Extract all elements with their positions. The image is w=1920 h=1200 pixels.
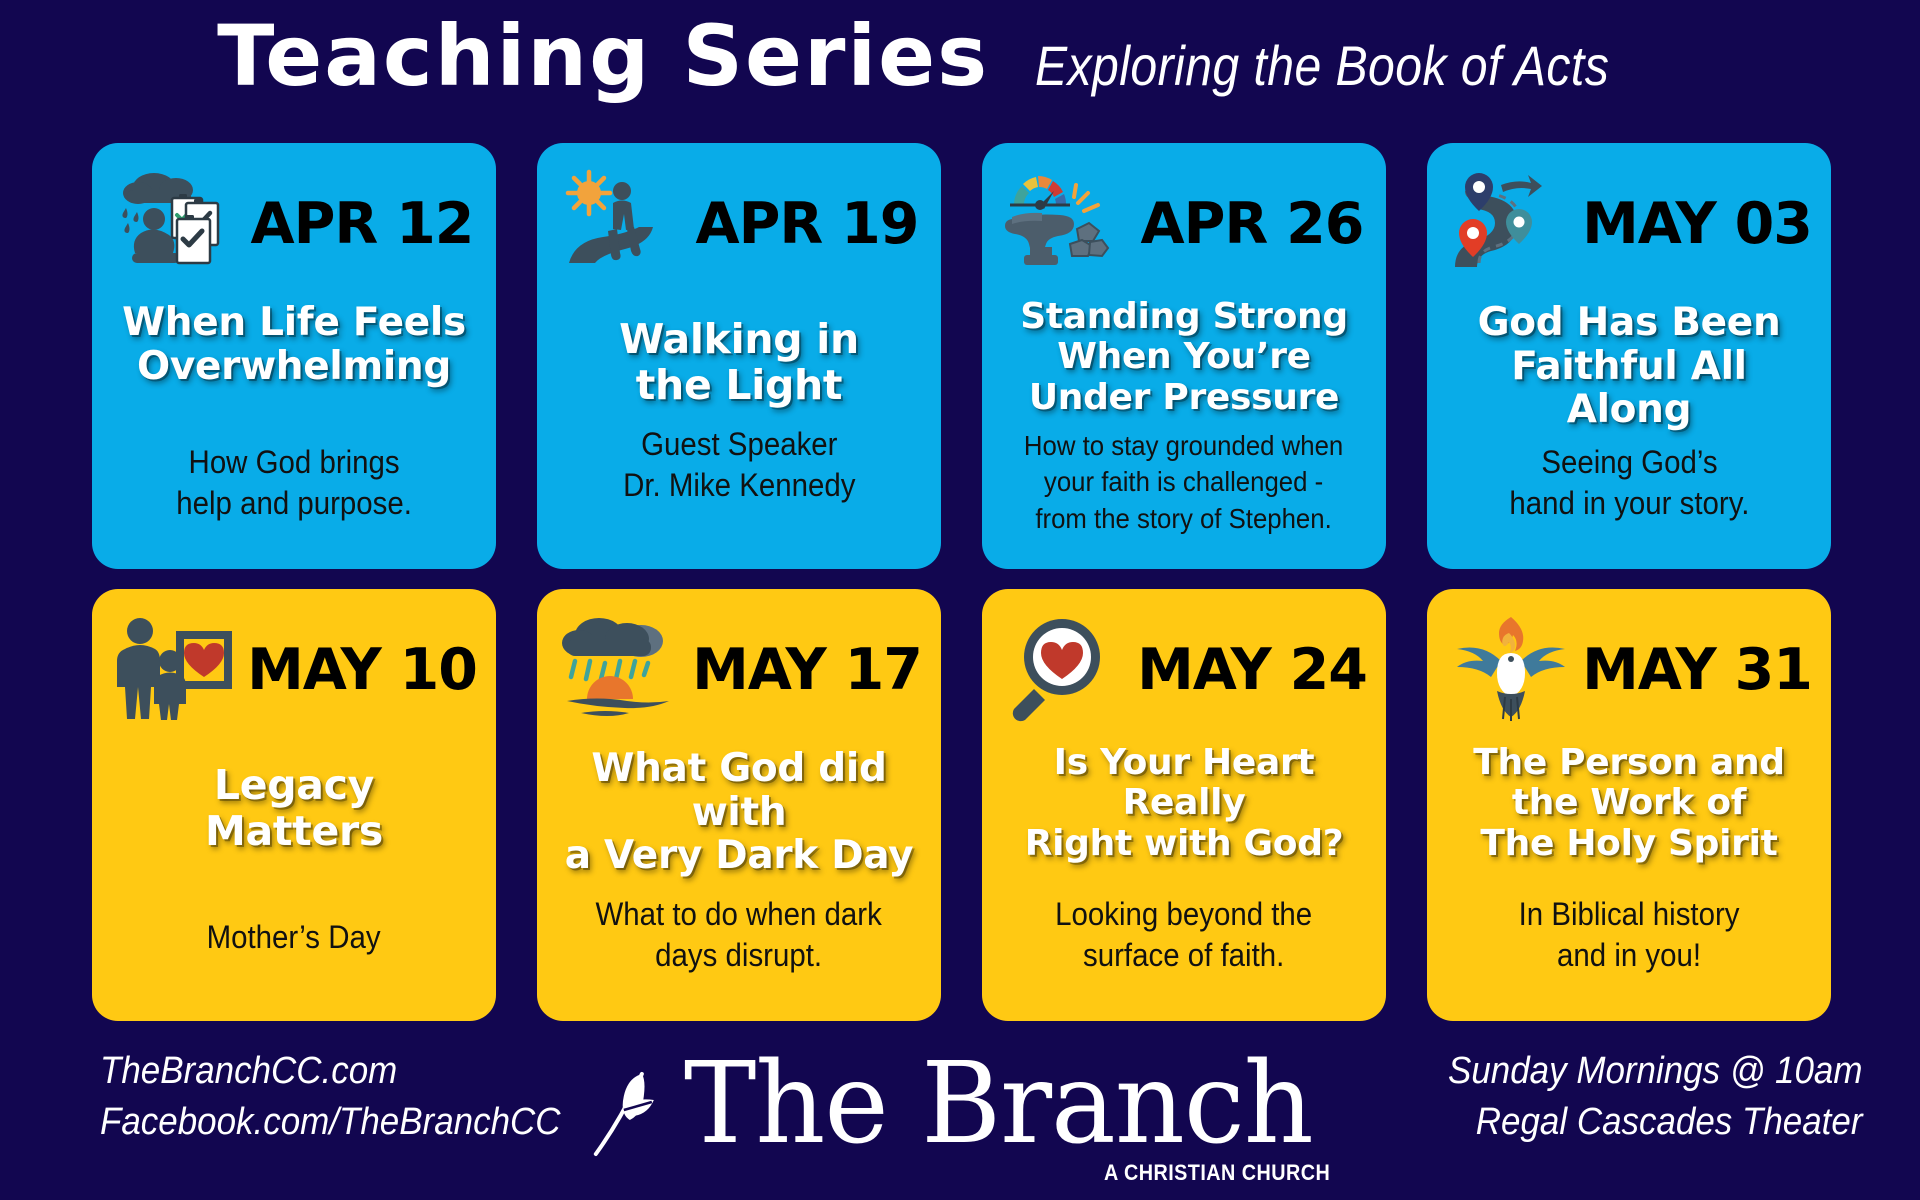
- card-date: APR 12: [246, 196, 482, 253]
- card-header: MAY 10: [106, 611, 482, 729]
- card-title: Legacy Matters: [201, 763, 387, 855]
- card-date: MAY 03: [1581, 196, 1817, 253]
- card-title: The Person and the Work of The Holy Spir…: [1469, 743, 1789, 864]
- page-header: Teaching Series Exploring the Book of Ac…: [0, 14, 1920, 124]
- card-description: Mother’s Day: [200, 917, 389, 1011]
- sermon-card[interactable]: APR 12 When Life Feels Overwhelming How …: [92, 143, 496, 569]
- pressure-gauge-anvil-rocks-icon: [1002, 165, 1130, 283]
- winding-road-map-pins-arrow-icon: [1447, 165, 1575, 283]
- dove-flame-icon: [1447, 611, 1575, 729]
- card-header: APR 19: [551, 165, 927, 283]
- storm-cloud-sunset-water-icon: [557, 611, 685, 729]
- card-title: Standing Strong When You’re Under Pressu…: [1016, 297, 1352, 418]
- service-time: Sunday Mornings @ 10am: [1448, 1046, 1862, 1097]
- card-title: What God did with a Very Dark Day: [551, 747, 927, 878]
- card-title: Walking in the Light: [615, 317, 863, 409]
- card-date: MAY 10: [246, 642, 482, 699]
- footer-web-links: TheBranchCC.com Facebook.com/TheBranchCC: [100, 1046, 561, 1147]
- sermon-card-grid: APR 12 When Life Feels Overwhelming How …: [92, 143, 1832, 1021]
- card-date: MAY 17: [691, 642, 927, 699]
- logo-text-group: The Branch A CHRISTIAN CHURCH: [684, 1048, 1332, 1160]
- sermon-card[interactable]: MAY 31 The Person and the Work of The Ho…: [1427, 589, 1831, 1021]
- card-description: Seeing God’s hand in your story.: [1502, 442, 1757, 559]
- card-description: How God brings help and purpose.: [169, 442, 419, 559]
- card-description: Guest Speaker Dr. Mike Kennedy: [615, 424, 862, 559]
- card-description: How to stay grounded when your faith is …: [1017, 428, 1351, 559]
- magnifying-glass-heart-icon: [1002, 611, 1130, 729]
- sermon-card[interactable]: APR 26 Standing Strong When You’re Under…: [982, 143, 1386, 569]
- card-date: APR 26: [1136, 196, 1372, 253]
- branch-leaf-icon: [588, 1040, 670, 1160]
- card-header: MAY 17: [551, 611, 927, 729]
- logo-wordmark: The Branch: [684, 1048, 1313, 1160]
- sermon-card[interactable]: MAY 24 Is Your Heart Really Right with G…: [982, 589, 1386, 1021]
- card-header: MAY 03: [1441, 165, 1817, 283]
- parent-child-heart-frame-icon: [112, 611, 240, 729]
- card-title: God Has Been Faithful All Along: [1441, 301, 1817, 432]
- card-header: APR 12: [106, 165, 482, 283]
- page-footer: TheBranchCC.com Facebook.com/TheBranchCC…: [0, 1028, 1920, 1200]
- rain-cloud-kneeling-person-checklist-icon: [112, 165, 240, 283]
- facebook-link[interactable]: Facebook.com/TheBranchCC: [100, 1097, 561, 1148]
- church-logo: The Branch A CHRISTIAN CHURCH: [588, 1040, 1332, 1160]
- card-header: APR 26: [996, 165, 1372, 283]
- card-description: What to do when dark days disrupt.: [588, 894, 889, 1011]
- card-description: In Biblical history and in you!: [1511, 894, 1747, 1011]
- card-date: MAY 31: [1581, 642, 1817, 699]
- card-title: Is Your Heart Really Right with God?: [996, 743, 1372, 864]
- card-header: MAY 31: [1441, 611, 1817, 729]
- logo-tagline: A CHRISTIAN CHURCH: [1104, 1160, 1330, 1186]
- website-link[interactable]: TheBranchCC.com: [100, 1046, 561, 1097]
- card-title: When Life Feels Overwhelming: [118, 301, 470, 388]
- footer-service-info: Sunday Mornings @ 10am Regal Cascades Th…: [1448, 1046, 1862, 1147]
- service-venue: Regal Cascades Theater: [1448, 1097, 1862, 1148]
- card-description: Looking beyond the surface of faith.: [1048, 894, 1320, 1011]
- sermon-card[interactable]: MAY 03 God Has Been Faithful All Along S…: [1427, 143, 1831, 569]
- sermon-card[interactable]: APR 19 Walking in the Light Guest Speake…: [537, 143, 941, 569]
- page-title: Teaching Series: [217, 14, 989, 98]
- sermon-card[interactable]: MAY 10 Legacy Matters Mother’s Day: [92, 589, 496, 1021]
- card-date: MAY 24: [1136, 642, 1372, 699]
- card-header: MAY 24: [996, 611, 1372, 729]
- page-subtitle: Exploring the Book of Acts: [1035, 38, 1609, 94]
- sun-person-walking-path-icon: [557, 165, 685, 283]
- card-date: APR 19: [691, 196, 927, 253]
- sermon-card[interactable]: MAY 17 What God did with a Very Dark Day…: [537, 589, 941, 1021]
